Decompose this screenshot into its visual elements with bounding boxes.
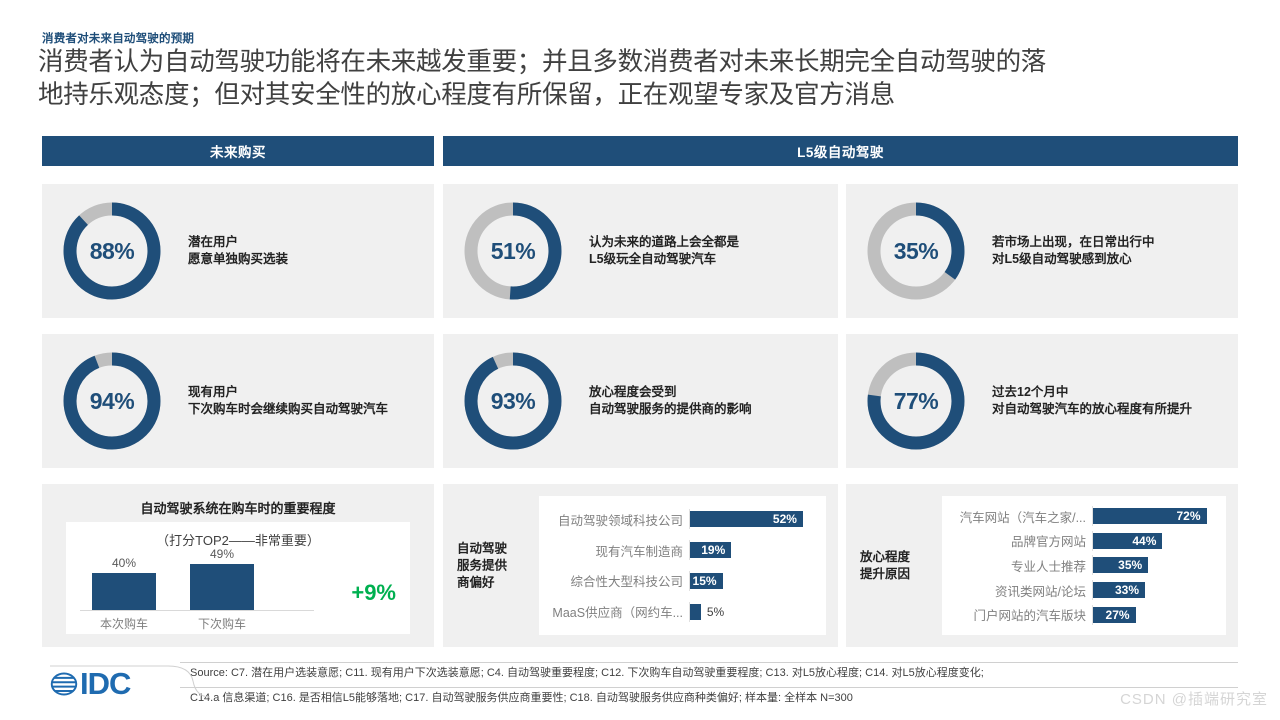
stat-description-1: 认为未来的道路上会全都是 L5级玩全自动驾驶汽车	[589, 234, 739, 268]
column-bar-fill	[190, 564, 254, 610]
hbar-value-label: 72%	[1177, 509, 1207, 523]
hbar-category-label: 品牌官方网站	[950, 531, 1092, 550]
hbar-fill: 19%	[690, 542, 731, 558]
stat-line-2: 愿意单独购买选装	[188, 251, 288, 268]
stat-line-2: 对L5级自动驾驶感到放心	[992, 251, 1155, 268]
donut-chart-0: 88%	[60, 199, 164, 303]
chart-title-line: 自动驾驶	[457, 540, 533, 557]
stat-card-3: 94% 现有用户 下次购车时会继续购买自动驾驶汽车	[42, 334, 434, 468]
hbar-category-label: 专业人士推荐	[950, 556, 1092, 575]
chart-title-line: 服务提供	[457, 557, 533, 574]
column-bar: 40%	[92, 573, 156, 610]
stat-card-5: 77% 过去12个月中 对自动驾驶汽车的放心程度有所提升	[846, 334, 1238, 468]
hbar-fill: 33%	[1093, 582, 1145, 598]
stat-line-2: 对自动驾驶汽车的放心程度有所提升	[992, 401, 1192, 418]
column-value-label: 49%	[190, 547, 254, 561]
footer-divider-bottom	[180, 687, 1238, 688]
hbar-row: 专业人士推荐35%	[950, 555, 1216, 575]
hbar-row: 现有汽车制造商19%	[547, 540, 816, 560]
stat-description-0: 潜在用户 愿意单独购买选装	[188, 234, 288, 268]
donut-value-5: 77%	[864, 349, 968, 453]
chart-title-line: 提升原因	[860, 566, 936, 583]
section-header-future-purchase: 未来购买	[42, 136, 434, 166]
hbar-track: 33%	[1092, 580, 1216, 600]
hbar-value-label: 33%	[1115, 583, 1145, 597]
donut-chart-3: 94%	[60, 349, 164, 453]
column-category-label: 本次购车	[92, 615, 156, 632]
hbar-fill: 52%	[690, 511, 803, 527]
hbar-fill	[690, 604, 701, 620]
stat-card-0: 88% 潜在用户 愿意单独购买选装	[42, 184, 434, 318]
source-line-2: C14.a 信息渠道; C16. 是否相信L5能够落地; C17. 自动驾驶服务…	[190, 691, 853, 705]
chart-title-line: 放心程度	[860, 549, 936, 566]
hbar-fill: 27%	[1093, 607, 1136, 623]
stat-description-2: 若市场上出现，在日常出行中 对L5级自动驾驶感到放心	[992, 234, 1155, 268]
chart-title-provider-preference: 自动驾驶服务提供商偏好	[457, 540, 533, 591]
globe-icon	[50, 670, 78, 698]
stat-line-1: 认为未来的道路上会全都是	[589, 235, 739, 249]
hbar-category-label: 汽车网站（汽车之家/...	[950, 507, 1092, 526]
hbar-fill: 35%	[1093, 557, 1148, 573]
hbar-category-label: 综合性大型科技公司	[547, 571, 689, 590]
hbar-value-label: 5%	[707, 605, 724, 619]
hbar-track: 19%	[689, 540, 816, 560]
watermark: CSDN @插端研究室	[1120, 688, 1268, 709]
chart-card-provider-preference: 自动驾驶服务提供商偏好 自动驾驶领域科技公司52%现有汽车制造商19%综合性大型…	[443, 484, 838, 647]
chart-card-importance: 自动驾驶系统在购车时的重要程度 （打分TOP2——非常重要） 40%49% 本次…	[42, 484, 434, 647]
source-line-1: Source: C7. 潜在用户选装意愿; C11. 现有用户下次选装意愿; C…	[190, 666, 984, 680]
stat-line-1: 过去12个月中	[992, 385, 1068, 399]
donut-chart-1: 51%	[461, 199, 565, 303]
hbar-category-label: 资讯类网站/论坛	[950, 581, 1092, 600]
hbar-track: 15%	[689, 571, 816, 591]
donut-value-3: 94%	[60, 349, 164, 453]
chart-title-importance: 自动驾驶系统在购车时的重要程度	[42, 498, 434, 517]
hbar-category-label: 现有汽车制造商	[547, 541, 689, 560]
hbar-value-label: 27%	[1106, 608, 1136, 622]
stat-card-1: 51% 认为未来的道路上会全都是 L5级玩全自动驾驶汽车	[443, 184, 838, 318]
donut-chart-4: 93%	[461, 349, 565, 453]
donut-value-0: 88%	[60, 199, 164, 303]
hbar-fill: 15%	[690, 573, 723, 589]
headline-line-2: 地持乐观态度；但对其安全性的放心程度有所保留，正在观望专家及官方消息	[38, 79, 1248, 112]
hbar-value-label: 19%	[701, 543, 731, 557]
hbar-value-label: 35%	[1118, 558, 1148, 572]
eyebrow-label: 消费者对未来自动驾驶的预期	[42, 30, 194, 46]
stat-line-1: 放心程度会受到	[589, 385, 677, 399]
column-category-label: 下次购车	[190, 615, 254, 632]
stat-description-5: 过去12个月中 对自动驾驶汽车的放心程度有所提升	[992, 384, 1192, 418]
idc-logo-text: IDC	[80, 668, 130, 699]
hbar-row: 品牌官方网站44%	[950, 531, 1216, 551]
donut-value-2: 35%	[864, 199, 968, 303]
headline-line-1: 消费者认为自动驾驶功能将在未来越发重要；并且多数消费者对未来长期完全自动驾驶的落	[38, 46, 1248, 79]
hbar-track: 44%	[1092, 531, 1216, 551]
donut-chart-2: 35%	[864, 199, 968, 303]
stat-line-1: 现有用户	[188, 385, 238, 399]
donut-chart-5: 77%	[864, 349, 968, 453]
column-value-label: 40%	[92, 556, 156, 570]
slide-root: 消费者对未来自动驾驶的预期 消费者认为自动驾驶功能将在未来越发重要；并且多数消费…	[0, 0, 1280, 720]
column-chart-importance: （打分TOP2——非常重要） 40%49% 本次购车下次购车 +9%	[66, 522, 410, 634]
hbar-row: 资讯类网站/论坛33%	[950, 580, 1216, 600]
chart-title-confidence-reasons: 放心程度提升原因	[860, 549, 936, 583]
hbar-category-label: 门户网站的汽车版块	[950, 605, 1092, 624]
chart-card-confidence-reasons: 放心程度提升原因 汽车网站（汽车之家/...72%品牌官方网站44%专业人士推荐…	[846, 484, 1238, 647]
donut-value-1: 51%	[461, 199, 565, 303]
section-header-l5-autonomous: L5级自动驾驶	[443, 136, 1238, 166]
stat-line-2: L5级玩全自动驾驶汽车	[589, 251, 739, 268]
donut-value-4: 93%	[461, 349, 565, 453]
hbar-track: 35%	[1092, 555, 1216, 575]
hbar-row: 门户网站的汽车版块27%	[950, 605, 1216, 625]
column-bar: 49%	[190, 564, 254, 610]
footer-divider-top	[180, 662, 1238, 663]
hbar-value-label: 52%	[773, 512, 803, 526]
hbar-row: 综合性大型科技公司15%	[547, 571, 816, 591]
hbar-chart-provider-preference: 自动驾驶领域科技公司52%现有汽车制造商19%综合性大型科技公司15%MaaS供…	[539, 496, 826, 635]
hbar-value-label: 44%	[1132, 534, 1162, 548]
delta-badge: +9%	[351, 580, 396, 606]
stat-line-1: 潜在用户	[188, 235, 238, 249]
hbar-row: MaaS供应商（网约车...5%	[547, 602, 816, 622]
stat-line-1: 若市场上出现，在日常出行中	[992, 235, 1155, 249]
column-category-labels: 本次购车下次购车	[80, 615, 314, 633]
stat-line-2: 下次购车时会继续购买自动驾驶汽车	[188, 401, 388, 418]
chart-title-line: 商偏好	[457, 574, 533, 591]
hbar-track: 5%	[689, 602, 816, 622]
stat-card-4: 93% 放心程度会受到 自动驾驶服务的提供商的影响	[443, 334, 838, 468]
hbar-chart-confidence-reasons: 汽车网站（汽车之家/...72%品牌官方网站44%专业人士推荐35%资讯类网站/…	[942, 496, 1226, 635]
hbar-fill: 72%	[1093, 508, 1207, 524]
page-title: 消费者认为自动驾驶功能将在未来越发重要；并且多数消费者对未来长期完全自动驾驶的落…	[38, 46, 1248, 112]
hbar-track: 52%	[689, 509, 816, 529]
hbar-track: 27%	[1092, 605, 1216, 625]
stat-line-2: 自动驾驶服务的提供商的影响	[589, 401, 752, 418]
idc-logo: IDC	[50, 668, 130, 699]
stat-card-2: 35% 若市场上出现，在日常出行中 对L5级自动驾驶感到放心	[846, 184, 1238, 318]
stat-description-4: 放心程度会受到 自动驾驶服务的提供商的影响	[589, 384, 752, 418]
hbar-category-label: MaaS供应商（网约车...	[547, 602, 689, 621]
column-bar-fill	[92, 573, 156, 610]
stat-description-3: 现有用户 下次购车时会继续购买自动驾驶汽车	[188, 384, 388, 418]
hbar-row: 汽车网站（汽车之家/...72%	[950, 506, 1216, 526]
hbar-category-label: 自动驾驶领域科技公司	[547, 510, 689, 529]
hbar-fill: 44%	[1093, 533, 1162, 549]
column-plot-area: 40%49%	[80, 554, 310, 610]
hbar-value-label: 15%	[693, 574, 723, 588]
hbar-row: 自动驾驶领域科技公司52%	[547, 509, 816, 529]
column-axis-line	[80, 610, 314, 611]
hbar-track: 72%	[1092, 506, 1216, 526]
